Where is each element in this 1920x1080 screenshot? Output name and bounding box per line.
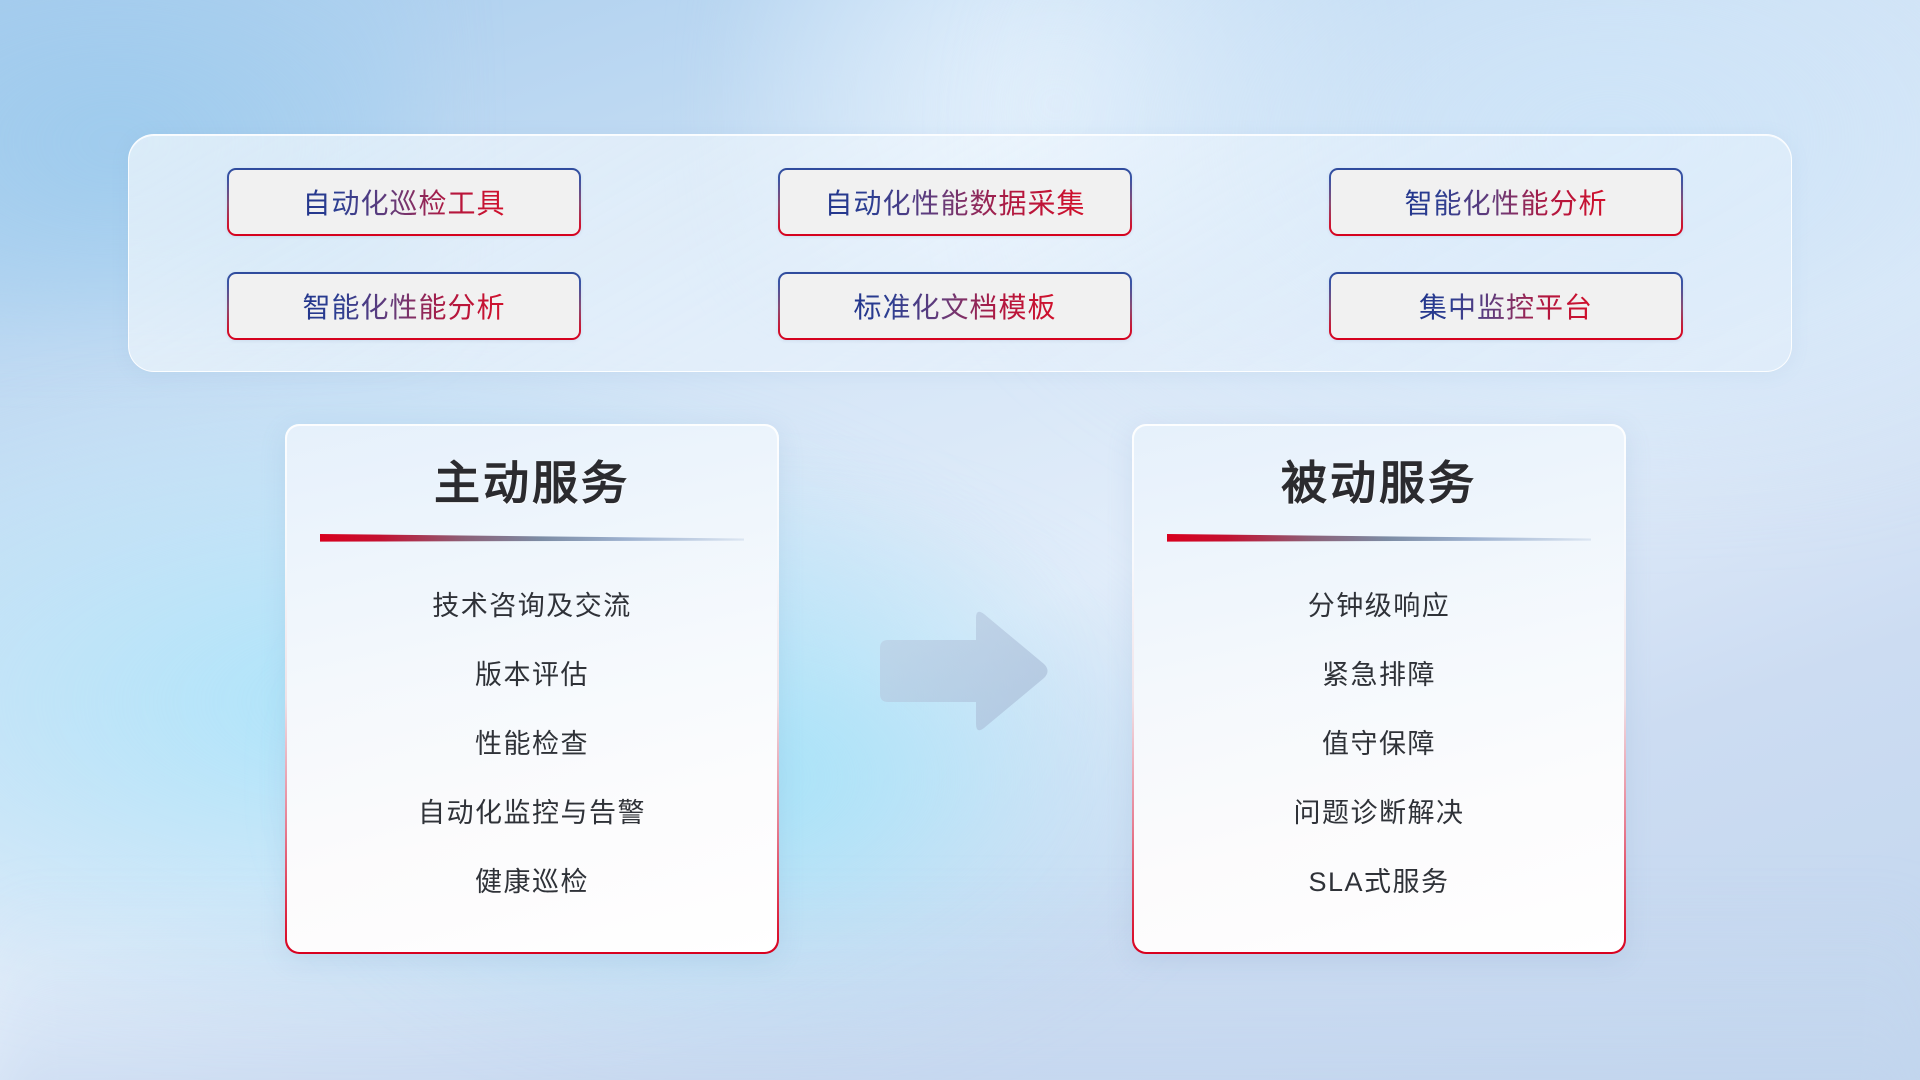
passive-service-title: 被动服务	[1281, 460, 1477, 506]
capability-pill-3-inner: 智能化性能分析	[1331, 170, 1681, 234]
list-item[interactable]: 值守保障	[1170, 710, 1589, 779]
active-service-list: 技术咨询及交流 版本评估 性能检查 自动化监控与告警 健康巡检	[323, 572, 742, 917]
list-item[interactable]: 紧急排障	[1170, 641, 1589, 710]
passive-service-card[interactable]: 被动服务	[1132, 424, 1626, 954]
list-item[interactable]: SLA式服务	[1170, 848, 1589, 917]
active-service-card-inner: 主动服务	[287, 426, 778, 953]
capability-pill-1[interactable]: 自动化巡检工具	[227, 168, 581, 236]
capability-pill-2-label: 自动化性能数据采集	[824, 182, 1085, 222]
capability-pill-4[interactable]: 智能化性能分析	[227, 272, 581, 340]
capability-pill-2-inner: 自动化性能数据采集	[780, 170, 1130, 234]
active-service-card[interactable]: 主动服务	[285, 424, 779, 954]
passive-service-card-inner: 被动服务	[1134, 426, 1625, 953]
capability-pill-6-label: 集中监控平台	[1419, 286, 1593, 326]
list-item[interactable]: 性能检查	[323, 710, 742, 779]
capability-pill-grid: 自动化巡检工具 自动化性能数据采集 智能化性能分析 智能化性能分析	[227, 168, 1693, 338]
list-item[interactable]: 技术咨询及交流	[323, 572, 742, 641]
passive-service-divider	[1167, 532, 1591, 544]
capability-pill-4-label: 智能化性能分析	[302, 286, 505, 326]
capability-pill-2[interactable]: 自动化性能数据采集	[778, 168, 1132, 236]
capability-pill-4-inner: 智能化性能分析	[229, 274, 579, 338]
capability-pill-5-inner: 标准化文档模板	[780, 274, 1130, 338]
capability-pill-1-label: 自动化巡检工具	[302, 182, 505, 222]
capability-pill-1-inner: 自动化巡检工具	[229, 170, 579, 234]
capability-pill-6-inner: 集中监控平台	[1331, 274, 1681, 338]
diagram-stage: 自动化巡检工具 自动化性能数据采集 智能化性能分析 智能化性能分析	[0, 0, 1920, 1080]
capability-pill-panel: 自动化巡检工具 自动化性能数据采集 智能化性能分析 智能化性能分析	[128, 134, 1792, 372]
flow-arrow-right-icon	[872, 606, 1052, 736]
passive-service-list: 分钟级响应 紧急排障 值守保障 问题诊断解决 SLA式服务	[1170, 572, 1589, 917]
list-item[interactable]: 版本评估	[323, 641, 742, 710]
list-item[interactable]: 自动化监控与告警	[323, 779, 742, 848]
list-item[interactable]: 健康巡检	[323, 848, 742, 917]
capability-pill-5[interactable]: 标准化文档模板	[778, 272, 1132, 340]
list-item[interactable]: 问题诊断解决	[1170, 779, 1589, 848]
active-service-title: 主动服务	[434, 460, 630, 506]
list-item[interactable]: 分钟级响应	[1170, 572, 1589, 641]
capability-pill-3-label: 智能化性能分析	[1404, 182, 1607, 222]
capability-pill-6[interactable]: 集中监控平台	[1329, 272, 1683, 340]
active-service-divider	[320, 532, 744, 544]
capability-pill-3[interactable]: 智能化性能分析	[1329, 168, 1683, 236]
capability-pill-5-label: 标准化文档模板	[853, 286, 1056, 326]
